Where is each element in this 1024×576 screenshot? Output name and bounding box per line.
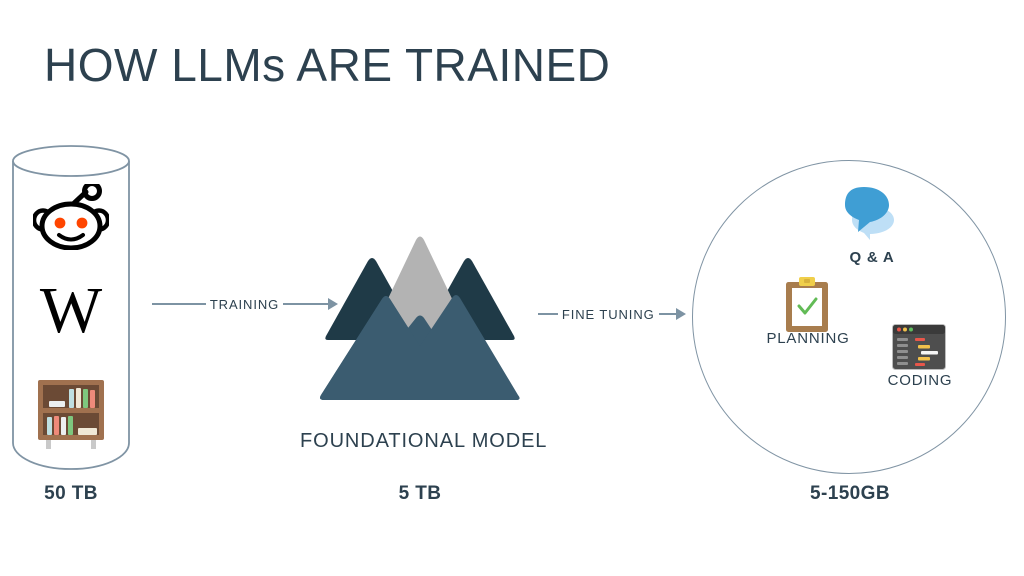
reddit-logo-slot — [10, 175, 132, 259]
wikipedia-logo-slot: W — [10, 271, 132, 351]
wikipedia-w-icon: W — [40, 278, 102, 344]
capability-label-coding: CODING — [872, 372, 968, 389]
speech-bubble-icon — [840, 186, 902, 240]
arrow-line-right — [659, 313, 677, 315]
capabilities-size-label: 5-150GB — [752, 483, 948, 505]
foundational-model-label: FOUNDATIONAL MODEL — [300, 430, 540, 453]
arrow-head-icon — [676, 308, 686, 320]
bookshelf-icon — [32, 374, 110, 452]
arrow-fine-tuning: FINE TUNING — [538, 307, 686, 321]
clipboard-shape — [785, 277, 829, 333]
training-data-cylinder: W — [10, 143, 132, 475]
clipboard-check-icon — [785, 277, 829, 333]
code-window-shape — [892, 324, 946, 370]
arrow-training-label: TRAINING — [206, 297, 283, 312]
arrow-line-left — [538, 313, 558, 315]
page-title: HOW LLMs ARE TRAINED — [44, 36, 610, 94]
arrow-line-left — [152, 303, 206, 305]
bookshelf-slot — [10, 365, 132, 461]
capability-label-qa: Q & A — [826, 249, 918, 266]
capability-label-planning: PLANNING — [760, 330, 856, 347]
reddit-icon — [33, 184, 109, 250]
mountain-shape — [306, 232, 534, 407]
training-data-size-label: 50 TB — [10, 483, 132, 505]
slide-canvas: HOW LLMs ARE TRAINED — [0, 0, 1024, 576]
speech-bubble-shape — [840, 186, 902, 240]
arrow-fine-tuning-label: FINE TUNING — [558, 307, 659, 322]
foundational-model-icon — [306, 232, 534, 407]
code-window-icon — [892, 324, 946, 370]
foundational-model-size-label: 5 TB — [300, 483, 540, 505]
